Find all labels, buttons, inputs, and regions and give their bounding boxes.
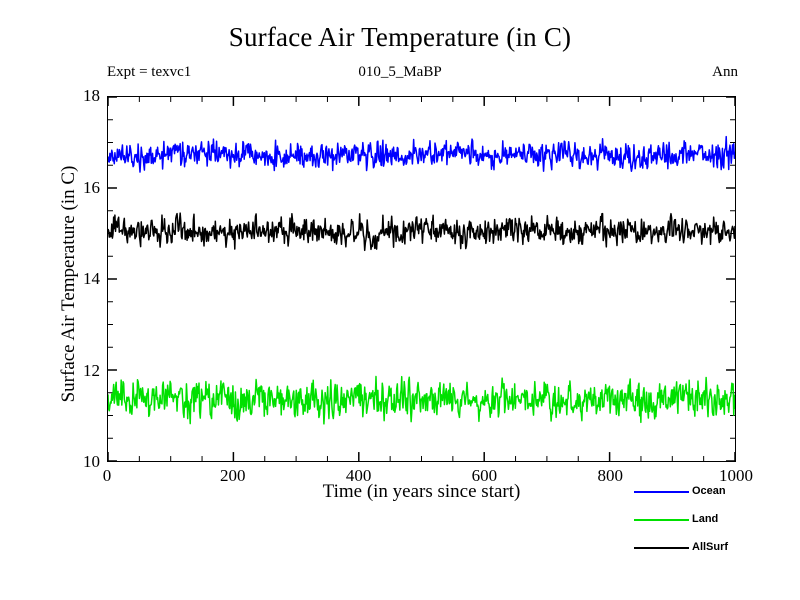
legend-label: AllSurf xyxy=(692,540,728,554)
x-tick-label: 1000 xyxy=(719,466,753,486)
y-tick-label: 18 xyxy=(83,86,100,106)
averaging-period-label: Ann xyxy=(712,64,738,81)
plot-area xyxy=(107,96,736,462)
legend-item[interactable]: AllSurf xyxy=(634,540,794,568)
x-tick-label: 800 xyxy=(597,466,623,486)
y-tick-label: 16 xyxy=(83,178,100,198)
legend-label: Ocean xyxy=(692,484,726,498)
x-tick-label: 200 xyxy=(220,466,246,486)
data-series-allsurf xyxy=(108,213,735,250)
chart-figure: Surface Air Temperature (in C) Expt = te… xyxy=(0,0,800,600)
legend-color-swatch xyxy=(634,491,689,493)
legend-label: Land xyxy=(692,512,718,526)
y-tick-label: 14 xyxy=(83,269,100,289)
y-tick-label: 10 xyxy=(83,452,100,472)
run-id-label: 010_5_MaBP xyxy=(0,64,800,81)
y-axis-tick-labels: 1012141618 xyxy=(60,96,100,462)
legend-color-swatch xyxy=(634,547,689,549)
x-tick-label: 0 xyxy=(103,466,112,486)
data-series-ocean xyxy=(108,137,735,172)
x-tick-label: 600 xyxy=(472,466,498,486)
x-tick-label: 400 xyxy=(346,466,372,486)
chart-title: Surface Air Temperature (in C) xyxy=(0,22,800,53)
legend: OceanLandAllSurf xyxy=(634,484,794,568)
series-canvas xyxy=(108,97,735,461)
y-tick-label: 12 xyxy=(83,361,100,381)
data-series-land xyxy=(108,377,735,424)
legend-color-swatch xyxy=(634,519,689,521)
legend-item[interactable]: Ocean xyxy=(634,484,794,512)
legend-item[interactable]: Land xyxy=(634,512,794,540)
